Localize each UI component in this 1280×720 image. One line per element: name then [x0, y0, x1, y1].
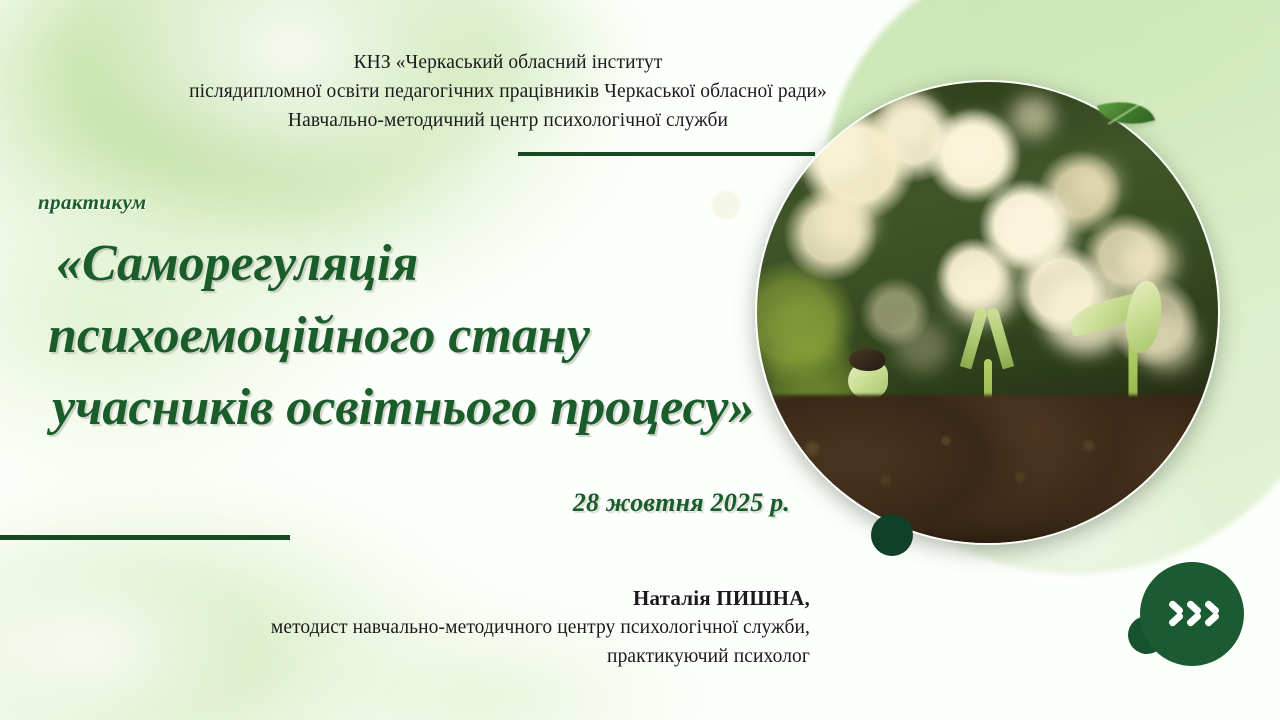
author-name: Наталія ПИШНА,	[0, 583, 810, 613]
author-role: методист навчально-методичного центру пс…	[0, 613, 810, 671]
author-role-line-2: практикуючий психолог	[0, 642, 810, 671]
divider-bottom	[0, 535, 290, 540]
author-role-line-1: методист навчально-методичного центру пс…	[0, 613, 810, 642]
presentation-slide: КНЗ «Черкаський обласний інститут післяд…	[0, 0, 1280, 720]
organization-header: КНЗ «Черкаський обласний інститут післяд…	[0, 48, 1000, 135]
divider-top	[518, 152, 815, 156]
soil-texture	[757, 386, 1218, 543]
chevron-badge	[1128, 562, 1280, 682]
event-type-label: практикум	[38, 190, 147, 215]
author-block: Наталія ПИШНА, методист навчально-методи…	[0, 583, 810, 671]
event-date: 28 жовтня 2025 р.	[0, 488, 790, 518]
organization-line-2: післядипломної освіти педагогічних праці…	[0, 77, 1000, 106]
title-line-3: учасників освітнього процесу»	[0, 372, 800, 444]
page-title: «Саморегуляція психоемоційного стану уча…	[0, 228, 800, 444]
organization-line-1: КНЗ «Черкаський обласний інститут	[0, 48, 1000, 77]
seedlings-photo	[755, 80, 1220, 545]
organization-line-3: Навчально-методичний центр психологічної…	[0, 106, 1000, 135]
title-line-1: «Саморегуляція	[0, 228, 800, 300]
dark-green-dot-decoration	[871, 514, 913, 556]
triple-chevron-right-icon	[1140, 562, 1244, 666]
cream-dot-decoration	[712, 191, 740, 219]
title-line-2: психоемоційного стану	[0, 300, 800, 372]
